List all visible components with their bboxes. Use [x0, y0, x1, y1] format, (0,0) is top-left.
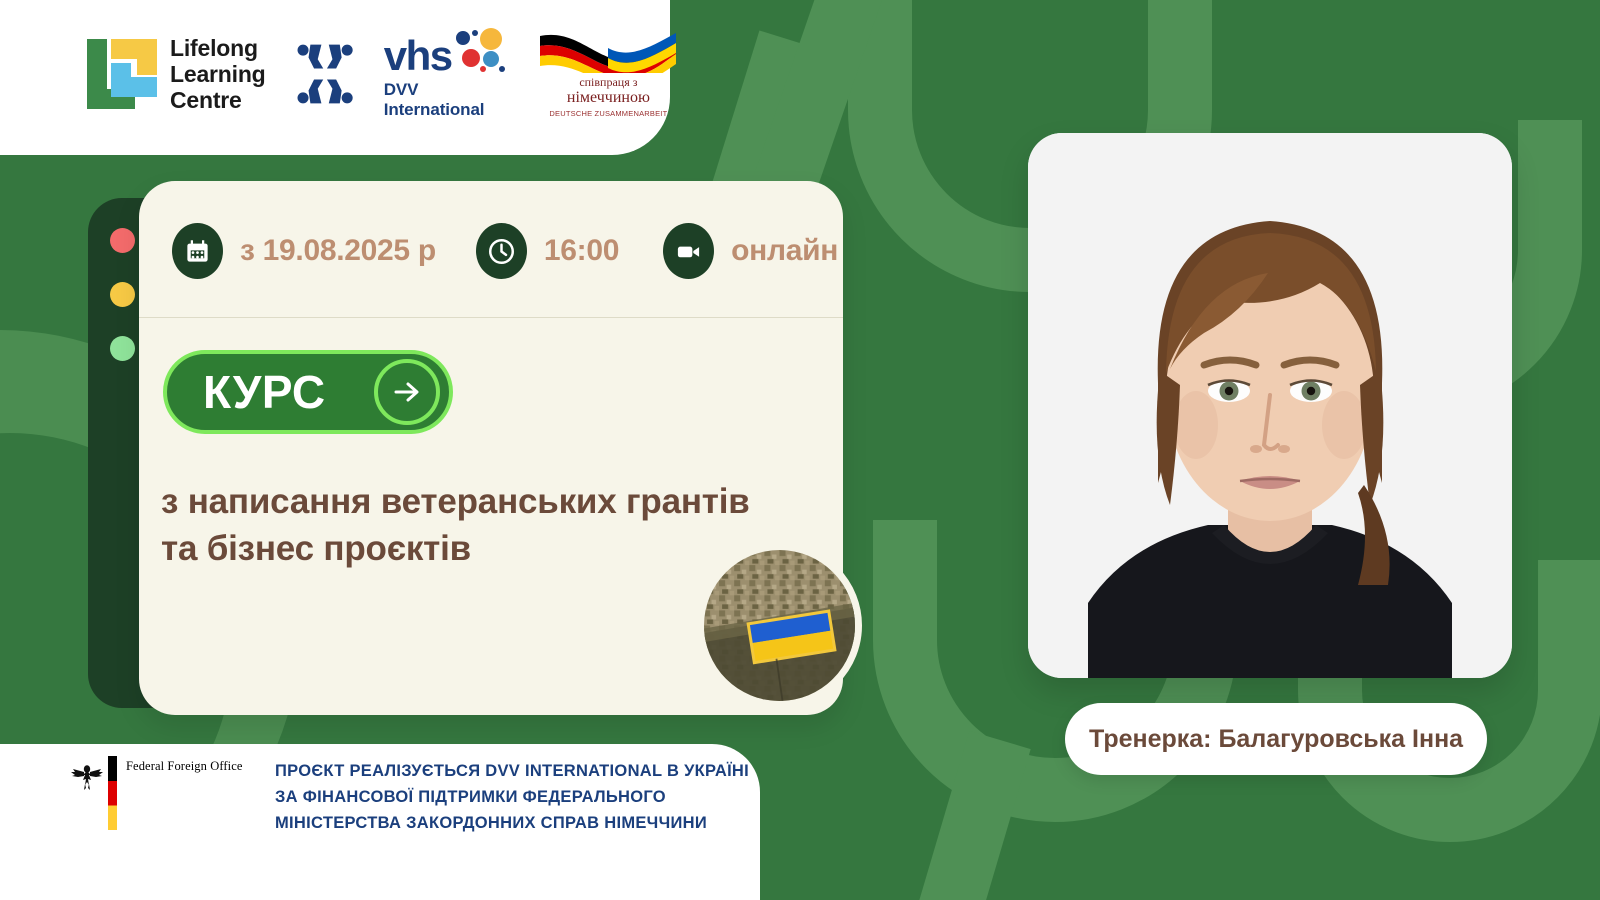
german-flag-bar-icon	[108, 756, 117, 830]
meta-time: 16:00	[476, 223, 619, 279]
logo-row: Lifelong Learning Centre	[85, 28, 678, 120]
trainer-name-chip: Тренерка: Балагуровська Інна	[1065, 703, 1487, 775]
minimize-dot-icon[interactable]	[110, 282, 135, 307]
flag-patch-image	[704, 550, 855, 701]
logo-lifelong-learning-centre: Lifelong Learning Centre	[85, 35, 266, 114]
video-camera-icon	[663, 223, 714, 279]
funding-line-2: ЗА ФІНАНСОВОЇ ПІДТРИМКИ ФЕДЕРАЛЬНОГО	[275, 784, 749, 810]
funding-line-1: ПРОЄКТ РЕАЛІЗУЄТЬСЯ DVV INTERNATIONAL В …	[275, 758, 749, 784]
federal-foreign-office-name: Federal Foreign Office	[126, 759, 243, 774]
close-dot-icon[interactable]	[110, 228, 135, 253]
meta-date: з 19.08.2025 р	[172, 223, 436, 279]
dvv-people-icon	[292, 38, 358, 110]
clock-icon	[476, 223, 527, 279]
course-meta-row: з 19.08.2025 р 16:00	[172, 223, 838, 279]
clock-glyph	[488, 238, 515, 265]
course-cta-button[interactable]: КУРС	[163, 350, 453, 434]
coop-line-2: німеччиною	[567, 90, 650, 107]
footer-band: Federal Foreign Office ПРОЄКТ РЕАЛІЗУЄТЬ…	[0, 744, 760, 900]
meta-format-text: онлайн	[731, 234, 838, 268]
vhs-wordmark: vhs	[384, 37, 452, 76]
trainer-name-label: Тренерка: Балагуровська Інна	[1089, 725, 1463, 754]
logo-panel: Lifelong Learning Centre	[0, 0, 670, 155]
maximize-dot-icon[interactable]	[110, 336, 135, 361]
meta-date-text: з 19.08.2025 р	[240, 234, 436, 268]
calendar-icon	[172, 223, 223, 279]
course-title: з написання ветеранських грантів та бізн…	[161, 479, 821, 572]
llc-line-3: Centre	[170, 87, 266, 113]
coop-ribbon-icon	[538, 30, 678, 73]
llc-line-2: Learning	[170, 61, 266, 87]
logo-vhs-dvv: vhs DVV International	[384, 28, 513, 120]
vhs-subtitle: DVV International	[384, 80, 513, 120]
course-title-line-1: з написання ветеранських грантів	[161, 479, 821, 526]
coop-line-3: DEUTSCHE ZUSAMMENARBEIT	[549, 109, 667, 118]
llc-wordmark: Lifelong Learning Centre	[170, 35, 266, 114]
promotional-poster: Lifelong Learning Centre	[0, 0, 1600, 900]
trainer-photo-card	[1028, 133, 1512, 678]
meta-format: онлайн	[663, 223, 838, 279]
llc-mark-icon	[85, 37, 159, 111]
german-eagle-icon	[70, 758, 104, 792]
funding-statement: ПРОЄКТ РЕАЛІЗУЄТЬСЯ DVV INTERNATIONAL В …	[275, 758, 749, 836]
coop-line-1: співпраця з	[579, 75, 637, 90]
llc-line-1: Lifelong	[170, 35, 266, 61]
arrow-right-glyph	[389, 374, 425, 410]
funding-line-3: МІНІСТЕРСТВА ЗАКОРДОННИХ СПРАВ НІМЕЧЧИНИ	[275, 810, 749, 836]
logo-german-cooperation: співпраця з німеччиною DEUTSCHE ZUSAMMEN…	[538, 30, 678, 118]
trainer-portrait-image	[1028, 133, 1512, 678]
flag-patch-photo	[697, 543, 862, 708]
vhs-dots-icon	[455, 28, 507, 74]
federal-foreign-office-logo: Federal Foreign Office	[70, 756, 243, 830]
window-traffic-lights	[110, 228, 135, 390]
video-camera-glyph	[675, 238, 702, 265]
vhs-top-row: vhs	[384, 28, 507, 76]
calendar-glyph	[184, 238, 211, 265]
arrow-right-icon	[374, 359, 440, 425]
card-divider	[139, 317, 843, 318]
meta-time-text: 16:00	[544, 234, 619, 268]
course-cta-label: КУРС	[203, 365, 326, 419]
